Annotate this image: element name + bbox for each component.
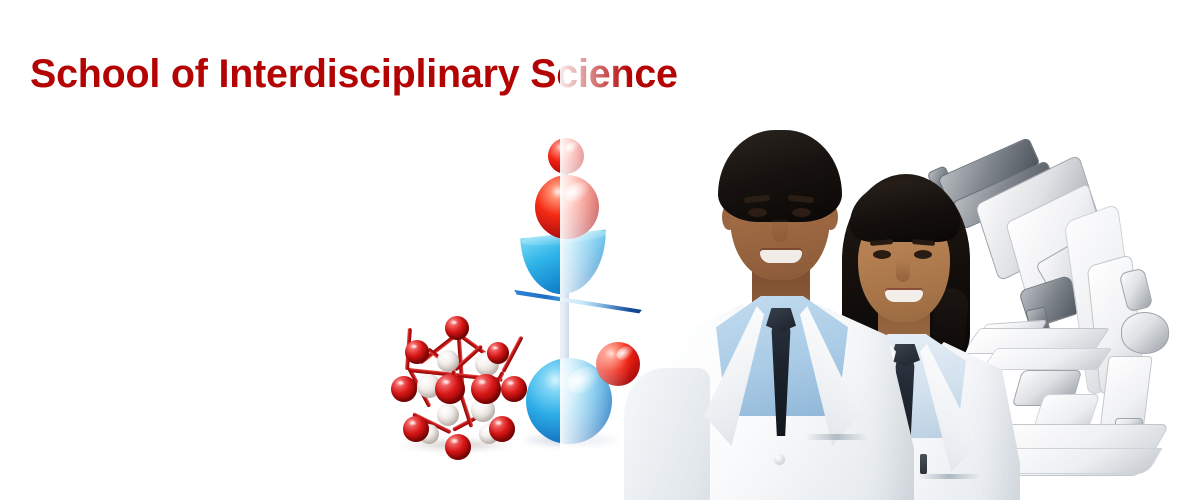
female-hair-front xyxy=(850,180,960,242)
female-eye-left xyxy=(873,250,891,259)
molecule-atom-red xyxy=(445,316,469,340)
sculpture-red-sphere-large xyxy=(535,175,599,239)
female-coat-pocket xyxy=(918,474,980,479)
microscope-coarse-focus-knob xyxy=(1121,312,1169,354)
students-photo xyxy=(600,118,1020,500)
female-mouth xyxy=(885,290,923,302)
banner-artwork xyxy=(0,0,1200,500)
male-mouth xyxy=(760,250,802,263)
male-nose xyxy=(772,218,788,242)
female-eye-right xyxy=(914,250,932,259)
molecule-atom-white xyxy=(437,350,459,372)
female-coat-pen xyxy=(920,454,927,474)
molecule-atom-red xyxy=(445,434,471,460)
banner-root: School of Interdisciplinary Science xyxy=(0,0,1200,500)
molecule-atom-red xyxy=(435,374,465,404)
male-coat-button xyxy=(774,454,785,465)
molecule-atom-red xyxy=(405,340,429,364)
male-coat-pocket xyxy=(806,434,868,440)
molecule-atom-red xyxy=(403,416,429,442)
male-hair xyxy=(718,130,842,222)
molecule-atom-red xyxy=(391,376,417,402)
molecule-atom-red xyxy=(471,374,501,404)
sculpture-red-sphere-top xyxy=(548,138,584,174)
male-eye-right xyxy=(792,208,811,217)
male-eye-left xyxy=(748,208,767,217)
molecule-atom-white xyxy=(437,404,459,426)
female-nose xyxy=(896,260,910,282)
male-left-arm xyxy=(624,368,710,500)
